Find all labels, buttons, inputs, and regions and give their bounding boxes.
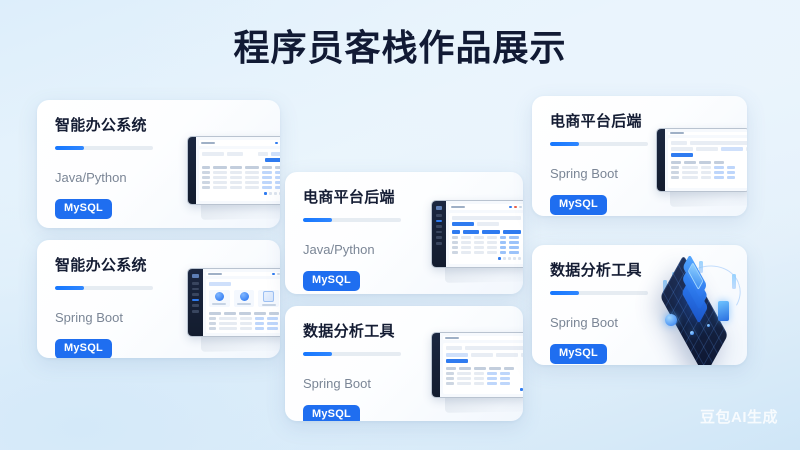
- mockup-td: [701, 166, 711, 169]
- mockup-th: [684, 161, 696, 164]
- mockup-th: [275, 166, 280, 169]
- mockup-td: [682, 176, 698, 179]
- mockup-page-dot: [269, 192, 272, 195]
- mockup-search-field: [690, 141, 747, 145]
- mockup-td: [219, 327, 237, 330]
- mockup-td: [267, 327, 278, 330]
- mockup-topbar: [443, 336, 523, 340]
- mockup-primary-button: [671, 153, 693, 157]
- mockup-nav-item-active: [436, 220, 442, 223]
- mockup-td: [255, 317, 264, 320]
- mockup-table-row: [209, 322, 279, 325]
- mockup-breadcrumb: [451, 206, 465, 208]
- mockup-stat-icon: [240, 292, 249, 301]
- mockup-th: [503, 230, 521, 234]
- mockup-td: [487, 382, 497, 385]
- mockup-td: [487, 251, 497, 254]
- mockup-nav-item-active: [192, 299, 199, 302]
- mockup-page-dot: [513, 257, 516, 260]
- mockup-td: [262, 186, 272, 189]
- mockup-tab: [671, 147, 693, 151]
- mockup-pagination: [671, 181, 747, 185]
- mockup-panel: [443, 343, 523, 394]
- mockup-table-row: [446, 377, 523, 380]
- card-1-content: 智能办公系统 Java/Python MySQL: [55, 116, 183, 219]
- card-6-progress-fill: [550, 291, 579, 295]
- mockup-td: [509, 251, 519, 254]
- mockup-td: [457, 377, 471, 380]
- mockup-td: [267, 317, 278, 320]
- mockup-td: [487, 236, 497, 239]
- mockup-td: [457, 372, 471, 375]
- mockup-main: [196, 137, 280, 204]
- mockup-tab-row: [671, 147, 747, 151]
- mockup-main: [665, 129, 747, 191]
- mockup-td: [262, 171, 272, 174]
- mockup-td: [500, 241, 506, 244]
- card-3-progress-fill: [303, 218, 332, 222]
- mockup-search-field: [465, 346, 523, 350]
- poster-canvas: 程序员客栈作品展示 智能办公系统 Java/Python MySQL: [0, 0, 800, 450]
- card-2-progress-bar: [55, 286, 153, 290]
- mockup-td: [461, 251, 471, 254]
- mockup-page-dot-active: [498, 257, 501, 260]
- mockup-main: [446, 201, 523, 267]
- project-card-2[interactable]: 智能办公系统 Spring Boot MySQL: [37, 240, 280, 358]
- card-3-badge[interactable]: MySQL: [303, 271, 360, 291]
- mockup-panel: [206, 279, 280, 333]
- mockup-tab: [471, 353, 493, 357]
- mockup-td: [509, 241, 519, 244]
- mockup-td: [461, 241, 471, 244]
- mockup-td: [671, 176, 679, 179]
- mockup-th: [671, 161, 681, 164]
- mockup-stat-icon: [215, 292, 224, 301]
- mockup-td: [474, 236, 484, 239]
- card-5-progress-fill: [550, 142, 579, 146]
- mockup-td: [701, 171, 711, 174]
- mockup-topbar-icon: [272, 273, 275, 276]
- card-2-badge[interactable]: MySQL: [55, 339, 112, 358]
- mockup-td: [474, 377, 484, 380]
- card-4-stack: Spring Boot: [303, 375, 431, 392]
- mockup-th: [489, 367, 501, 370]
- mockup-nav-item: [192, 304, 199, 307]
- mockup-filter-field: [202, 152, 224, 156]
- mockup-nav-item: [436, 225, 442, 228]
- mockup-td: [714, 176, 724, 179]
- mockup-breadcrumb: [201, 142, 215, 144]
- mockup-td: [209, 322, 216, 325]
- mockup-td: [727, 171, 735, 174]
- mockup-td: [452, 251, 458, 254]
- mockup-td: [209, 317, 216, 320]
- mockup-filter-row: [202, 152, 280, 156]
- mockup-filter-field: [271, 152, 280, 156]
- mockup-td: [474, 251, 484, 254]
- mockup-td: [240, 327, 252, 330]
- mockup-th: [452, 230, 460, 234]
- mockup-td: [714, 166, 724, 169]
- mockup-topbar-icon: [519, 206, 522, 209]
- mockup-table-row: [446, 372, 523, 375]
- mockup-th: [209, 312, 221, 315]
- card-3-progress-bar: [303, 218, 401, 222]
- card-5-mockup-image: [656, 128, 747, 190]
- mockup-th: [239, 312, 251, 315]
- mockup-td: [275, 176, 280, 179]
- mockup-table-row: [671, 176, 747, 179]
- mockup-th: [504, 367, 514, 370]
- mockup-page-dot-active: [520, 388, 523, 391]
- mockup-search-field: [452, 216, 521, 220]
- mockup-stat-label: [237, 303, 251, 305]
- mockup-td: [275, 186, 280, 189]
- project-card-5[interactable]: 电商平台后端 Spring Boot MySQL: [532, 96, 747, 216]
- card-1-mockup-image: [187, 136, 280, 203]
- card-3-stack: Java/Python: [303, 241, 431, 258]
- mockup-th: [463, 230, 479, 234]
- mockup-table-row: [202, 176, 280, 179]
- mockup-td: [230, 176, 242, 179]
- mockup-nav-item: [192, 288, 199, 291]
- mockup-panel: [199, 149, 280, 201]
- mockup-action-row: [671, 153, 747, 157]
- mockup-stat-cards: [209, 289, 279, 309]
- mockup-tab: [746, 147, 747, 151]
- card-1-progress-bar: [55, 146, 153, 150]
- mockup-td: [213, 181, 227, 184]
- mockup-sidebar: [657, 129, 665, 191]
- card-2-title: 智能办公系统: [55, 256, 183, 276]
- mockup-td: [446, 372, 454, 375]
- mockup-td: [500, 382, 510, 385]
- mockup-page-dot: [518, 257, 521, 260]
- mockup-nav-item: [192, 282, 199, 285]
- mockup-topbar: [668, 132, 747, 135]
- mockup-filter-row: [452, 216, 521, 220]
- mockup-td: [509, 236, 519, 239]
- mockup-page-dot: [508, 257, 511, 260]
- mockup-td: [209, 327, 216, 330]
- card-1-title: 智能办公系统: [55, 116, 183, 136]
- mockup-td: [446, 377, 454, 380]
- mockup-sidebar: [432, 201, 446, 267]
- mockup-th: [262, 166, 272, 169]
- mockup-topbar: [199, 140, 280, 146]
- card-4-title: 数据分析工具: [303, 322, 431, 342]
- mockup-td: [230, 171, 242, 174]
- mockup-nav-item: [436, 242, 442, 245]
- card-6-badge[interactable]: MySQL: [550, 344, 607, 364]
- mockup-td: [262, 181, 272, 184]
- dashboard-mockup: [656, 128, 747, 192]
- mockup-td: [671, 166, 679, 169]
- mockup-tab: [696, 147, 718, 151]
- iso-bar-decoration: [732, 274, 736, 289]
- mockup-pagination: [446, 387, 523, 391]
- mockup-td: [500, 236, 506, 239]
- mockup-table-row: [452, 236, 521, 239]
- mockup-th: [459, 367, 471, 370]
- mockup-td: [452, 241, 458, 244]
- project-card-4[interactable]: 数据分析工具 Spring Boot MySQL: [285, 306, 523, 421]
- mockup-td: [487, 241, 497, 244]
- mockup-primary-button: [446, 359, 468, 363]
- mockup-tab: [477, 222, 499, 226]
- mockup-td: [701, 176, 711, 179]
- mockup-th: [254, 312, 266, 315]
- card-3-mockup-image: [431, 200, 523, 266]
- mockup-th: [224, 312, 236, 315]
- mockup-td: [202, 176, 210, 179]
- mockup-nav-item: [436, 231, 442, 234]
- mockup-td: [682, 171, 698, 174]
- mockup-th: [202, 166, 210, 169]
- mockup-td: [275, 171, 280, 174]
- iso-side-card: [718, 301, 729, 321]
- mockup-breadcrumb: [445, 337, 459, 339]
- mockup-td: [509, 246, 519, 249]
- mockup-td: [487, 372, 497, 375]
- mockup-td: [267, 322, 278, 325]
- mockup-stat-card: [258, 290, 279, 307]
- card-1-progress-fill: [55, 146, 84, 150]
- mockup-table-row: [671, 166, 747, 169]
- mockup-panel: [668, 138, 747, 189]
- mockup-stat-label: [212, 303, 226, 305]
- card-4-progress-bar: [303, 352, 401, 356]
- mockup-table-header: [202, 165, 280, 169]
- mockup-nav-item: [436, 214, 442, 217]
- mockup-th: [474, 367, 486, 370]
- card-4-badge[interactable]: MySQL: [303, 405, 360, 421]
- mockup-td: [457, 382, 471, 385]
- mockup-filter-row: [446, 346, 523, 350]
- mockup-th: [245, 166, 259, 169]
- mockup-main: [440, 333, 523, 397]
- card-2-stack: Spring Boot: [55, 309, 183, 326]
- card-2-progress-fill: [55, 286, 84, 290]
- mockup-filter-row: [209, 282, 279, 286]
- mockup-td: [245, 181, 259, 184]
- card-5-progress-bar: [550, 142, 648, 146]
- mockup-table-row: [452, 241, 521, 244]
- mockup-page-dot: [503, 257, 506, 260]
- mockup-table-row: [671, 171, 747, 174]
- mockup-breadcrumb: [670, 132, 684, 134]
- mockup-td: [487, 246, 497, 249]
- card-1-stack: Java/Python: [55, 169, 183, 186]
- mockup-td: [230, 186, 242, 189]
- mockup-td: [213, 171, 227, 174]
- mockup-spacer: [234, 282, 279, 286]
- mockup-td: [240, 322, 252, 325]
- card-6-progress-bar: [550, 291, 648, 295]
- mockup-td: [255, 327, 264, 330]
- mockup-table-header: [452, 229, 521, 234]
- mockup-table-row: [202, 171, 280, 174]
- mockup-filter-label: [671, 141, 687, 145]
- mockup-td: [461, 246, 471, 249]
- mockup-th: [446, 367, 456, 370]
- mockup-tab: [446, 353, 468, 357]
- mockup-pagination: [202, 191, 280, 195]
- mockup-th: [482, 230, 500, 234]
- mockup-td: [474, 382, 484, 385]
- mockup-sidebar: [188, 137, 196, 204]
- mockup-breadcrumb: [208, 273, 222, 275]
- mockup-tab-row: [446, 353, 523, 357]
- mockup-table-row: [209, 317, 279, 320]
- mockup-table-row: [202, 181, 280, 184]
- mockup-tab: [496, 353, 518, 357]
- mockup-table-row: [452, 251, 521, 254]
- mockup-td: [255, 322, 264, 325]
- mockup-topbar-icon: [509, 206, 512, 209]
- mockup-td: [727, 176, 735, 179]
- mockup-filter-field: [258, 152, 268, 156]
- mockup-td: [245, 186, 259, 189]
- mockup-stat-card: [209, 290, 230, 307]
- mockup-sidebar: [432, 333, 440, 397]
- mockup-nav-item: [436, 236, 442, 239]
- mockup-tab-active: [452, 222, 474, 226]
- mockup-topbar-icon: [514, 206, 517, 209]
- mockup-table-row: [446, 382, 523, 385]
- page-title: 程序员客栈作品展示: [0, 24, 800, 72]
- mockup-td: [219, 317, 237, 320]
- mockup-tab: [721, 147, 743, 151]
- project-card-3[interactable]: 电商平台后端 Java/Python MySQL: [285, 172, 523, 294]
- mockup-td: [474, 372, 484, 375]
- mockup-td: [452, 236, 458, 239]
- card-2-mockup-image: [187, 268, 280, 335]
- mockup-topbar: [206, 272, 280, 276]
- mockup-spacer: [246, 152, 255, 156]
- mockup-td: [452, 246, 458, 249]
- mockup-nav-item: [192, 310, 199, 313]
- mockup-td: [682, 166, 698, 169]
- mockup-td: [245, 176, 259, 179]
- mockup-td: [245, 171, 259, 174]
- mockup-page-dot: [279, 192, 280, 195]
- mockup-td: [474, 241, 484, 244]
- mockup-td: [474, 246, 484, 249]
- mockup-td: [275, 181, 280, 184]
- mockup-td: [202, 171, 210, 174]
- mockup-td: [500, 246, 506, 249]
- mockup-table-row: [452, 246, 521, 249]
- mockup-th: [213, 166, 227, 169]
- mockup-primary-button: [265, 158, 280, 162]
- card-2-content: 智能办公系统 Spring Boot MySQL: [55, 256, 183, 358]
- mockup-stat-icon: [263, 291, 274, 302]
- mockup-td: [446, 382, 454, 385]
- mockup-td: [240, 317, 252, 320]
- mockup-table-row: [202, 186, 280, 189]
- mockup-filter-label: [446, 346, 462, 350]
- mockup-td: [500, 377, 510, 380]
- mockup-td: [230, 181, 242, 184]
- dashboard-mockup: [187, 268, 280, 337]
- mockup-table-header: [446, 366, 523, 370]
- card-4-progress-fill: [303, 352, 332, 356]
- iso-node-sphere: [665, 314, 677, 326]
- mockup-td: [461, 236, 471, 239]
- mockup-td: [213, 176, 227, 179]
- mockup-pagination: [452, 256, 521, 260]
- project-card-1[interactable]: 智能办公系统 Java/Python MySQL: [37, 100, 280, 228]
- mockup-main: [203, 269, 280, 336]
- card-3-title: 电商平台后端: [303, 188, 431, 208]
- mockup-td: [500, 251, 506, 254]
- mockup-stat-label: [262, 304, 276, 306]
- mockup-filter-row: [671, 141, 747, 145]
- mockup-action-row: [446, 359, 523, 363]
- mockup-td: [202, 186, 210, 189]
- card-5-badge[interactable]: MySQL: [550, 195, 607, 215]
- project-card-6[interactable]: 数据分析工具 Spring Boot MySQL: [532, 245, 747, 365]
- mockup-nav-item: [192, 293, 199, 296]
- mockup-filter-field: [209, 282, 231, 286]
- mockup-table-row: [209, 327, 279, 330]
- mockup-tab-row: [452, 222, 521, 226]
- mockup-panel: [449, 213, 523, 264]
- card-4-mockup-image: [431, 332, 523, 396]
- mockup-topbar-icon: [275, 142, 278, 145]
- mockup-action-row: [202, 158, 280, 162]
- mockup-td: [727, 166, 735, 169]
- dashboard-mockup: [431, 332, 523, 398]
- mockup-td: [714, 171, 724, 174]
- dashboard-mockup: [187, 136, 280, 205]
- mockup-stat-card: [234, 290, 255, 307]
- mockup-sidebar: [188, 269, 203, 336]
- mockup-td: [202, 181, 210, 184]
- card-1-badge[interactable]: MySQL: [55, 199, 112, 219]
- mockup-page-dot: [274, 192, 277, 195]
- mockup-spacer: [202, 158, 262, 162]
- mockup-td: [213, 186, 227, 189]
- mockup-logo: [436, 206, 442, 210]
- mockup-td: [262, 176, 272, 179]
- mockup-tab: [521, 353, 523, 357]
- mockup-th: [230, 166, 242, 169]
- mockup-td: [487, 377, 497, 380]
- mockup-logo: [192, 274, 199, 278]
- card-6-illustration: [642, 253, 747, 358]
- mockup-th: [269, 312, 279, 315]
- card-3-content: 电商平台后端 Java/Python MySQL: [303, 188, 431, 291]
- mockup-td: [500, 372, 510, 375]
- dashboard-mockup: [431, 200, 523, 268]
- card-4-content: 数据分析工具 Spring Boot MySQL: [303, 322, 431, 421]
- mockup-filter-field: [227, 152, 243, 156]
- mockup-topbar-icon: [277, 273, 280, 276]
- mockup-th: [714, 161, 724, 164]
- mockup-table-header: [209, 311, 279, 315]
- mockup-th: [699, 161, 711, 164]
- mockup-td: [219, 322, 237, 325]
- mockup-topbar: [449, 204, 523, 210]
- mockup-table-header: [671, 160, 747, 164]
- mockup-page-dot-active: [264, 192, 267, 195]
- mockup-td: [671, 171, 679, 174]
- watermark: 豆包AI生成: [700, 408, 778, 428]
